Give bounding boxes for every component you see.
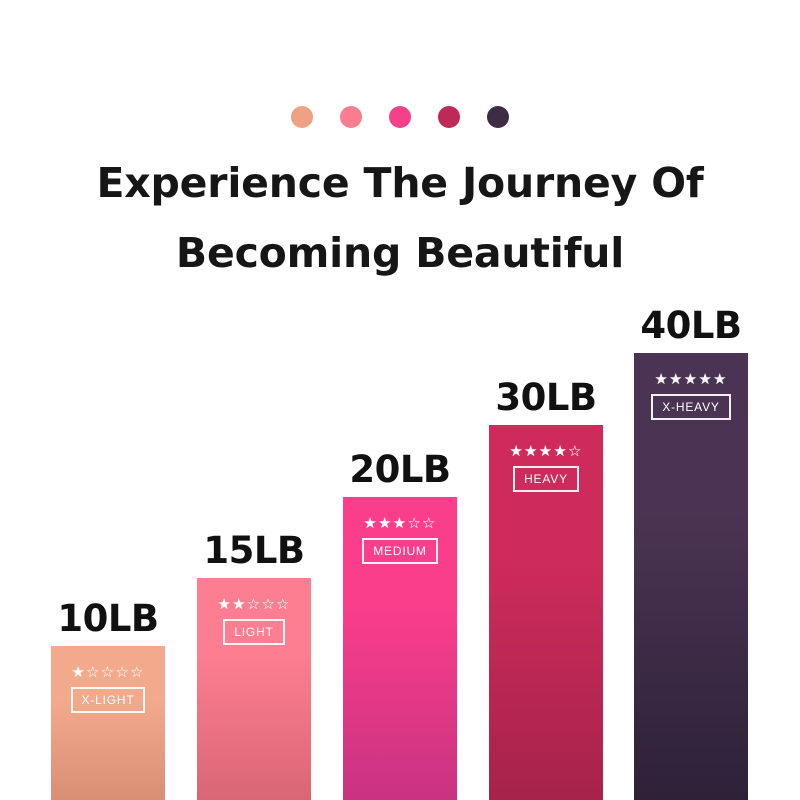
bar-content: ★☆☆☆☆X-LIGHT [51, 646, 165, 713]
resistance-level-badge: MEDIUM [362, 538, 437, 564]
bar-weight-label: 10LB [51, 600, 165, 637]
resistance-level-badge: HEAVY [513, 466, 579, 492]
bar-40lb[interactable]: 40LB★★★★★X-HEAVY [634, 353, 748, 800]
bar-10lb[interactable]: 10LB★☆☆☆☆X-LIGHT [51, 646, 165, 800]
bar-content: ★★☆☆☆LIGHT [197, 578, 311, 645]
bar-content: ★★★★★X-HEAVY [634, 353, 748, 420]
bar-weight-label: 40LB [634, 307, 748, 344]
star-rating: ★★★☆☆ [363, 515, 436, 531]
bar-fill: ★★☆☆☆LIGHT [197, 578, 311, 800]
resistance-level-badge: X-LIGHT [71, 687, 146, 713]
bar-fill: ★★★★★X-HEAVY [634, 353, 748, 800]
bar-fill: ★★★★☆HEAVY [489, 425, 603, 800]
bar-fill: ★☆☆☆☆X-LIGHT [51, 646, 165, 800]
bar-weight-label: 30LB [489, 379, 603, 416]
bar-content: ★★★☆☆MEDIUM [343, 497, 457, 564]
bar-content: ★★★★☆HEAVY [489, 425, 603, 492]
resistance-level-badge: X-HEAVY [651, 394, 730, 420]
bar-weight-label: 15LB [197, 532, 311, 569]
bar-15lb[interactable]: 15LB★★☆☆☆LIGHT [197, 578, 311, 800]
bar-fill: ★★★☆☆MEDIUM [343, 497, 457, 800]
star-rating: ★★☆☆☆ [217, 596, 290, 612]
resistance-level-badge: LIGHT [223, 619, 284, 645]
star-rating: ★★★★☆ [509, 443, 582, 459]
bar-30lb[interactable]: 30LB★★★★☆HEAVY [489, 425, 603, 800]
bar-weight-label: 20LB [343, 451, 457, 488]
resistance-band-infographic: Experience The Journey Of Becoming Beaut… [0, 0, 800, 800]
star-rating: ★☆☆☆☆ [71, 664, 144, 680]
resistance-bar-chart: 10LB★☆☆☆☆X-LIGHT15LB★★☆☆☆LIGHT20LB★★★☆☆M… [0, 0, 800, 800]
bar-20lb[interactable]: 20LB★★★☆☆MEDIUM [343, 497, 457, 800]
star-rating: ★★★★★ [654, 371, 727, 387]
